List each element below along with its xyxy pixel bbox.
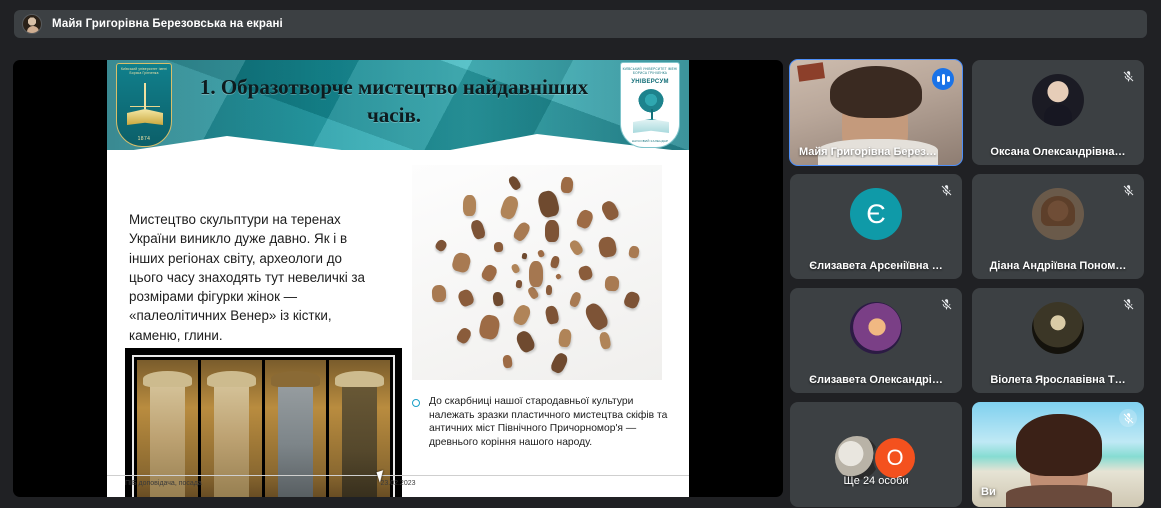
clay-figurine: [522, 253, 528, 260]
more-participants-avatars: О: [835, 436, 917, 480]
avatar-initial: О: [886, 445, 903, 471]
clay-figurine: [434, 238, 449, 253]
avatar: [1032, 74, 1084, 126]
clay-figurine: [451, 251, 472, 273]
participant-name: Оксана Олександрівна…: [972, 146, 1144, 158]
slide-bullet-item: До скарбниці нашої стародавньої культури…: [412, 395, 670, 450]
mic-muted-icon: [1119, 295, 1137, 313]
presenter-avatar: [22, 14, 42, 34]
participant-tile-diana[interactable]: Діана Андріївна Поном…: [972, 174, 1144, 279]
clay-figurine: [510, 263, 520, 274]
participant-name: Єлизавета Арсеніївна …: [790, 260, 962, 272]
clay-figurine: [549, 351, 569, 374]
clay-figurine: [529, 261, 543, 287]
clay-figurine: [555, 273, 562, 280]
presenting-banner: Майя Григорівна Березовська на екрані: [14, 10, 1147, 38]
slide-title: 1. Образотворче мистецтво найдавніших ча…: [179, 74, 609, 129]
clay-figurine: [512, 220, 532, 242]
clay-figurine: [493, 242, 503, 253]
clay-figurines-photo: [412, 165, 662, 380]
logo-name: УНІВЕРСУМ: [621, 79, 679, 85]
clay-figurine: [515, 280, 521, 288]
clay-figurine: [544, 305, 559, 325]
speaking-indicator-icon: [932, 68, 954, 90]
clay-figurine: [526, 286, 539, 300]
avatar: [850, 302, 902, 354]
clay-figurine: [455, 326, 473, 345]
bullet-circle-icon: [412, 399, 420, 407]
mic-muted-icon: [1119, 67, 1137, 85]
participant-name: Ви: [981, 486, 996, 498]
mic-muted-icon: [1119, 181, 1137, 199]
clay-figurine: [568, 238, 585, 256]
clay-figurine: [502, 354, 513, 368]
clay-figurine: [507, 175, 522, 191]
avatar: [1032, 188, 1084, 240]
clay-figurine: [537, 249, 546, 258]
clay-figurine: [492, 292, 504, 307]
clay-figurine: [432, 284, 447, 302]
avatar-initial: Є: [866, 199, 885, 230]
clay-figurine: [550, 255, 560, 269]
clay-figurine: [600, 199, 621, 222]
avatar-initial-circle: О: [873, 436, 917, 480]
clay-figurine: [560, 176, 573, 193]
clay-figurine: [545, 220, 559, 241]
clay-figurine: [498, 195, 520, 222]
slide-footer-date: 23.02.2023: [107, 480, 689, 487]
avatar: [1032, 302, 1084, 354]
clay-figurine: [478, 314, 501, 341]
more-participants-label: Ще 24 особи: [790, 475, 962, 487]
book-icon: [633, 119, 669, 133]
clay-figurine: [605, 276, 619, 292]
participant-tile-self[interactable]: Ви: [972, 402, 1144, 507]
slide-paragraph: Мистецтво скульптури на теренах України …: [129, 210, 374, 345]
presentation-slide: Київський університет імені Бориса Грінч…: [107, 60, 689, 497]
slide-body: Мистецтво скульптури на теренах України …: [107, 150, 689, 497]
clay-figurine: [462, 195, 475, 216]
university-crest-icon: Київський університет імені Бориса Грінч…: [116, 63, 172, 147]
logo-top-text: КИЇВСЬКИЙ УНІВЕРСИТЕТ ІМЕНІ БОРИСА ГРІНЧ…: [621, 67, 679, 76]
participant-name: Єлизавета Олександрі…: [790, 374, 962, 386]
participant-tile-violeta[interactable]: Віолета Ярославівна Т…: [972, 288, 1144, 393]
clay-figurine: [577, 264, 593, 281]
clay-figurine: [480, 263, 499, 283]
participant-name: Майя Григорівна Берез…: [790, 146, 962, 158]
clay-figurine: [511, 303, 532, 327]
crest-year: 1874: [117, 136, 171, 142]
slide-bullet-text: До скарбниці нашої стародавньої культури…: [429, 395, 670, 450]
participant-name: Діана Андріївна Поном…: [972, 260, 1144, 272]
mic-muted-icon: [937, 295, 955, 313]
avatar: Є: [850, 188, 902, 240]
clay-figurine: [598, 331, 611, 349]
clay-figurine: [582, 301, 610, 333]
logo-bottom-text: НАУКОВИЙ КАЛЕНДАР: [621, 139, 679, 143]
clay-figurine: [575, 208, 594, 230]
clay-figurine: [457, 288, 476, 308]
participant-tile-maya[interactable]: Майя Григорівна Берез…: [790, 60, 962, 165]
universum-logo-icon: КИЇВСЬКИЙ УНІВЕРСИТЕТ ІМЕНІ БОРИСА ГРІНЧ…: [620, 62, 680, 148]
participant-tile-yelizaveta-a[interactable]: Є Єлизавета Арсеніївна …: [790, 174, 962, 279]
clay-figurine: [569, 291, 583, 308]
clay-figurine: [623, 290, 642, 310]
clay-figurine: [514, 329, 537, 355]
clay-figurine: [558, 329, 572, 348]
clay-figurine: [469, 218, 486, 240]
participant-name: Віолета Ярославівна Т…: [972, 374, 1144, 386]
mic-muted-icon: [937, 181, 955, 199]
slide-footer: ПІБ доповідача, посада 23.02.2023: [107, 475, 689, 497]
clay-figurine: [598, 236, 618, 259]
crest-top-text: Київський університет імені Бориса Грінч…: [117, 67, 171, 76]
participant-tile-oksana[interactable]: Оксана Олександрівна…: [972, 60, 1144, 165]
crest-pen-shape: [144, 83, 146, 109]
crest-book-shape: [127, 109, 163, 125]
top-bar: Майя Григорівна Березовська на екрані: [0, 0, 1161, 46]
shared-screen-stage[interactable]: Київський університет імені Бориса Грінч…: [13, 60, 783, 497]
clay-figurine: [536, 189, 560, 219]
clay-figurine: [628, 246, 640, 260]
presenting-banner-label: Майя Григорівна Березовська на екрані: [52, 18, 283, 30]
more-participants-tile[interactable]: О Ще 24 особи: [790, 402, 962, 507]
participant-tile-yelizaveta-o[interactable]: Єлизавета Олександрі…: [790, 288, 962, 393]
mic-muted-icon: [1119, 409, 1137, 427]
clay-figurine: [546, 285, 553, 295]
participant-grid: Майя Григорівна Берез… Оксана Олександрі…: [790, 60, 1152, 508]
